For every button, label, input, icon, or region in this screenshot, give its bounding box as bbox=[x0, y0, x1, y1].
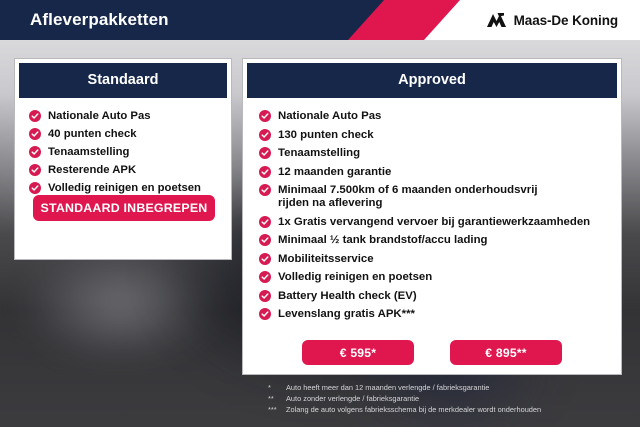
feature-label: Minimaal ½ tank brandstof/accu lading bbox=[278, 234, 488, 247]
delivery-packages-slide: Afleverpakketten Maas-De Koning Standaar… bbox=[0, 0, 640, 427]
feature-item: Tenaamstelling bbox=[29, 146, 231, 159]
footnote-marker: * bbox=[268, 382, 286, 393]
page-header: Afleverpakketten Maas-De Koning bbox=[0, 0, 640, 40]
footnote-text: Auto zonder verlengde / fabrieksgarantie bbox=[286, 393, 419, 404]
feature-item: Resterende APK bbox=[29, 164, 231, 177]
feature-item: Tenaamstelling bbox=[259, 147, 621, 160]
feature-item: 130 punten check bbox=[259, 129, 621, 142]
check-circle-icon bbox=[259, 129, 271, 141]
feature-item: 12 maanden garantie bbox=[259, 166, 621, 179]
feature-item: Minimaal ½ tank brandstof/accu lading bbox=[259, 234, 621, 247]
brand-lockup: Maas-De Koning bbox=[486, 0, 618, 40]
feature-label: Nationale Auto Pas bbox=[278, 110, 381, 123]
check-circle-icon bbox=[259, 308, 271, 320]
check-circle-icon bbox=[259, 290, 271, 302]
page-title: Afleverpakketten bbox=[30, 0, 169, 40]
feature-label: Volledig reinigen en poetsen bbox=[48, 182, 201, 195]
check-circle-icon bbox=[29, 110, 41, 122]
feature-label: Mobiliteitsservice bbox=[278, 253, 374, 266]
feature-item: Volledig reinigen en poetsen bbox=[259, 271, 621, 284]
check-circle-icon bbox=[259, 216, 271, 228]
feature-label: Tenaamstelling bbox=[48, 146, 129, 159]
check-circle-icon bbox=[259, 234, 271, 246]
footnote-marker: ** bbox=[268, 393, 286, 404]
feature-label: Resterende APK bbox=[48, 164, 136, 177]
feature-item: Mobiliteitsservice bbox=[259, 253, 621, 266]
feature-label: Battery Health check (EV) bbox=[278, 290, 417, 303]
package-title-approved: Approved bbox=[247, 63, 617, 98]
footnote-marker: *** bbox=[268, 404, 286, 415]
feature-item: Levenslang gratis APK*** bbox=[259, 308, 621, 321]
check-circle-icon bbox=[29, 128, 41, 140]
check-circle-icon bbox=[29, 146, 41, 158]
feature-label: 12 maanden garantie bbox=[278, 166, 391, 179]
price-button-595[interactable]: € 595* bbox=[302, 340, 414, 365]
feature-list-standaard: Nationale Auto Pas 40 punten check Tenaa… bbox=[15, 98, 231, 195]
footnote: ** Auto zonder verlengde / fabrieksgaran… bbox=[268, 393, 628, 404]
feature-item: Battery Health check (EV) bbox=[259, 290, 621, 303]
feature-label: 1x Gratis vervangend vervoer bij garanti… bbox=[278, 216, 590, 229]
footnote-list: * Auto heeft meer dan 12 maanden verleng… bbox=[268, 382, 628, 415]
feature-list-approved: Nationale Auto Pas 130 punten check Tena… bbox=[243, 98, 621, 321]
feature-label: Volledig reinigen en poetsen bbox=[278, 271, 432, 284]
package-card-approved: Approved Nationale Auto Pas 130 punten c… bbox=[242, 58, 622, 375]
feature-label: Tenaamstelling bbox=[278, 147, 360, 160]
feature-item: Minimaal 7.500km of 6 maanden onderhouds… bbox=[259, 184, 621, 210]
footnote-text: Auto heeft meer dan 12 maanden verlengde… bbox=[286, 382, 489, 393]
feature-label: 40 punten check bbox=[48, 128, 137, 141]
standaard-inbegrepen-button[interactable]: STANDAARD INBEGREPEN bbox=[33, 195, 215, 221]
check-circle-icon bbox=[259, 253, 271, 265]
feature-item: Nationale Auto Pas bbox=[259, 110, 621, 123]
feature-item: Volledig reinigen en poetsen bbox=[29, 182, 231, 195]
feature-item: 40 punten check bbox=[29, 128, 231, 141]
footnote: * Auto heeft meer dan 12 maanden verleng… bbox=[268, 382, 628, 393]
check-circle-icon bbox=[29, 164, 41, 176]
feature-label: Nationale Auto Pas bbox=[48, 110, 151, 123]
feature-item: 1x Gratis vervangend vervoer bij garanti… bbox=[259, 216, 621, 229]
check-circle-icon bbox=[259, 271, 271, 283]
check-circle-icon bbox=[259, 110, 271, 122]
check-circle-icon bbox=[259, 184, 271, 196]
package-card-standaard: Standaard Nationale Auto Pas 40 punten c… bbox=[14, 58, 232, 260]
footnote-text: Zolang de auto volgens fabrieksschema bi… bbox=[286, 404, 541, 415]
check-circle-icon bbox=[259, 147, 271, 159]
brand-name: Maas-De Koning bbox=[514, 13, 618, 28]
footnote: *** Zolang de auto volgens fabrieksschem… bbox=[268, 404, 628, 415]
feature-label-continued: rijden na aflevering bbox=[278, 197, 538, 210]
feature-label: Minimaal 7.500km of 6 maanden onderhouds… bbox=[278, 184, 538, 197]
check-circle-icon bbox=[259, 166, 271, 178]
feature-item: Nationale Auto Pas bbox=[29, 110, 231, 123]
price-button-895[interactable]: € 895** bbox=[450, 340, 562, 365]
feature-label: Levenslang gratis APK*** bbox=[278, 308, 415, 321]
feature-label: 130 punten check bbox=[278, 129, 374, 142]
check-circle-icon bbox=[29, 182, 41, 194]
package-title-standaard: Standaard bbox=[19, 63, 227, 98]
price-button-row: € 595* € 895** bbox=[243, 340, 621, 365]
maas-de-koning-m-logo-icon bbox=[486, 13, 507, 28]
